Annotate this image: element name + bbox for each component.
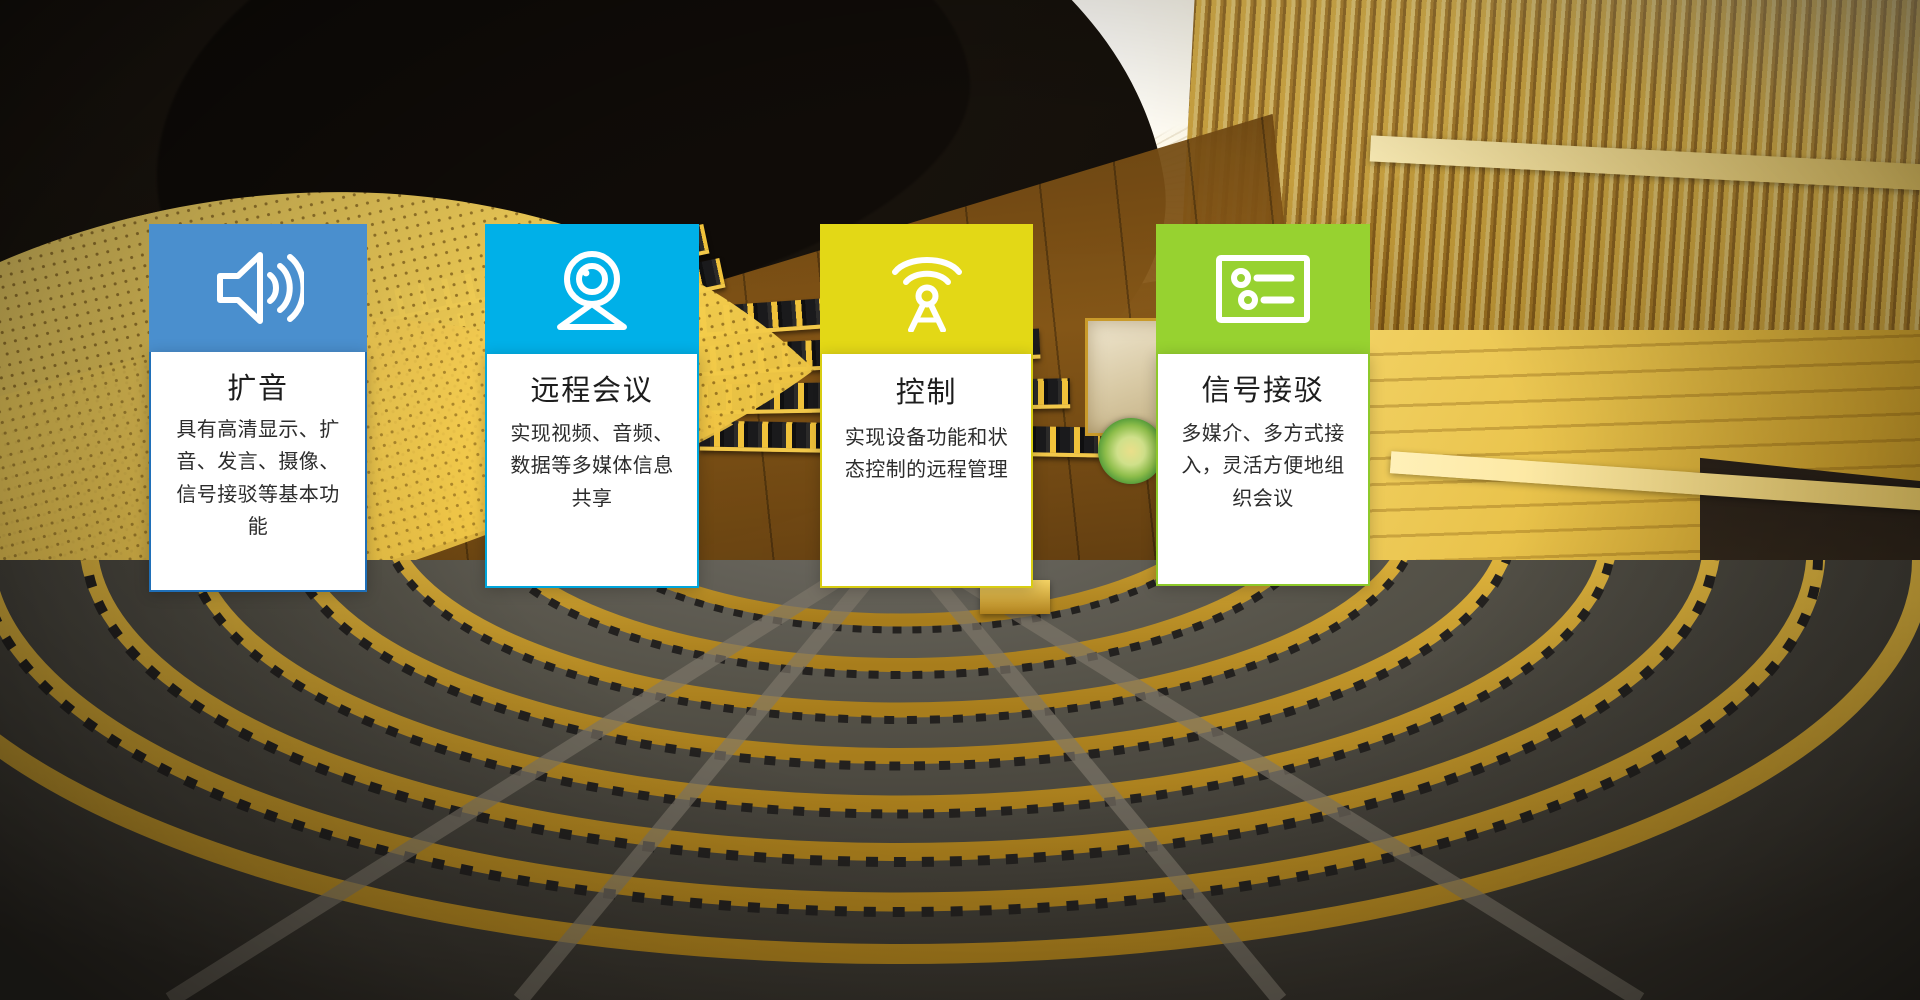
card-body: 控制 实现设备功能和状态控制的远程管理 bbox=[820, 354, 1033, 588]
broadcast-antenna-icon bbox=[885, 246, 969, 332]
card-description: 具有高清显示、扩音、发言、摄像、信号接驳等基本功能 bbox=[167, 414, 349, 544]
card-icon-header bbox=[820, 224, 1033, 354]
card-icon-header bbox=[1156, 224, 1370, 354]
signal-panel-icon bbox=[1215, 252, 1311, 326]
card-description: 实现设备功能和状态控制的远程管理 bbox=[836, 422, 1017, 487]
card-icon-header bbox=[485, 224, 699, 354]
feature-card-signal-connection[interactable]: 信号接驳 多媒介、多方式接入，灵活方便地组织会议 bbox=[1156, 224, 1370, 586]
feature-card-remote-conference[interactable]: 远程会议 实现视频、音频、数据等多媒体信息共享 bbox=[485, 224, 699, 588]
card-body: 远程会议 实现视频、音频、数据等多媒体信息共享 bbox=[485, 354, 699, 588]
card-body: 扩音 具有高清显示、扩音、发言、摄像、信号接驳等基本功能 bbox=[149, 352, 367, 592]
card-title: 信号接驳 bbox=[1172, 376, 1354, 408]
card-title: 控制 bbox=[836, 378, 1017, 410]
card-description: 实现视频、音频、数据等多媒体信息共享 bbox=[501, 418, 683, 515]
feature-banner: 扩音 具有高清显示、扩音、发言、摄像、信号接驳等基本功能 远程会议 实现视频、音… bbox=[0, 0, 1920, 1000]
card-description: 多媒介、多方式接入，灵活方便地组织会议 bbox=[1172, 418, 1354, 515]
card-body: 信号接驳 多媒介、多方式接入，灵活方便地组织会议 bbox=[1156, 354, 1370, 586]
feature-card-control[interactable]: 控制 实现设备功能和状态控制的远程管理 bbox=[820, 224, 1033, 588]
card-icon-header bbox=[149, 224, 367, 352]
card-title: 扩音 bbox=[167, 374, 349, 406]
speaker-volume-icon bbox=[212, 247, 304, 329]
webcam-icon bbox=[548, 247, 636, 331]
feature-card-amplification[interactable]: 扩音 具有高清显示、扩音、发言、摄像、信号接驳等基本功能 bbox=[149, 224, 367, 592]
card-title: 远程会议 bbox=[501, 376, 683, 408]
